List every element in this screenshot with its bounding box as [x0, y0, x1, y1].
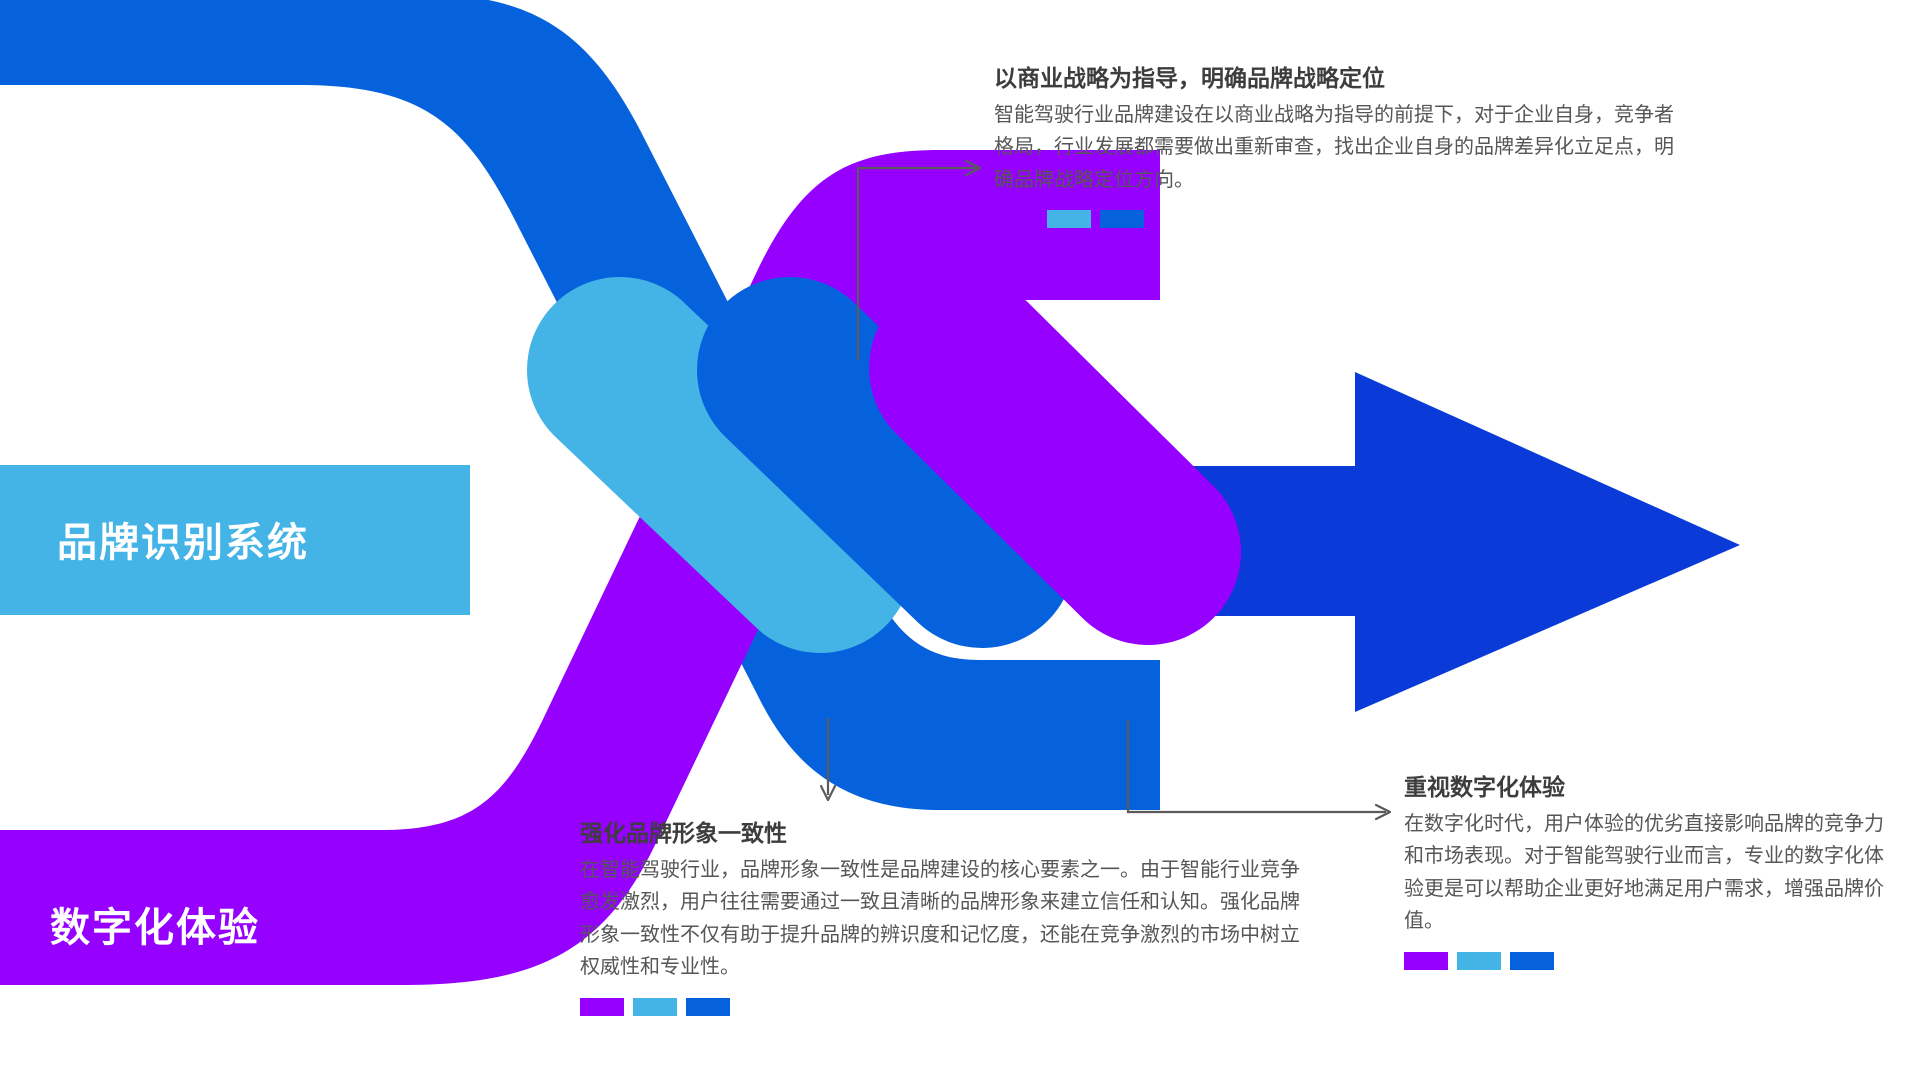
callout-consistency-swatches — [580, 998, 1310, 1016]
callout-strategy-title: 以商业战略为指导，明确品牌战略定位 — [994, 63, 1684, 94]
swatch-blue — [1510, 952, 1554, 970]
band-label-digital: 数字化体验 — [50, 908, 260, 948]
callout-digital-title: 重视数字化体验 — [1404, 772, 1894, 803]
callout-digital-body: 在数字化时代，用户体验的优劣直接影响品牌的竞争力和市场表现。对于智能驾驶行业而言… — [1404, 808, 1894, 938]
swatch-blue — [686, 998, 730, 1016]
swatch-cyan — [1457, 952, 1501, 970]
callout-strategy-body: 智能驾驶行业品牌建设在以商业战略为指导的前提下，对于企业自身，竞争者格局，行业发… — [994, 99, 1684, 196]
callout-digital: 重视数字化体验 在数字化时代，用户体验的优劣直接影响品牌的竞争力和市场表现。对于… — [1404, 772, 1894, 970]
callout-strategy-swatches — [994, 210, 1684, 228]
callout-consistency: 强化品牌形象一致性 在智能驾驶行业，品牌形象一致性是品牌建设的核心要素之一。由于… — [580, 818, 1310, 1016]
band-label-strategy: 品牌战略定位 — [57, 152, 309, 192]
swatch-blue — [1100, 210, 1144, 228]
callout-strategy: 以商业战略为指导，明确品牌战略定位 智能驾驶行业品牌建设在以商业战略为指导的前提… — [994, 63, 1684, 228]
infographic-canvas: 品牌战略定位 品牌识别系统 数字化体验 以商业战略为指导，明确品牌战略定位 智能… — [0, 0, 1920, 1080]
connector-digital — [1128, 720, 1386, 812]
band-label-identity: 品牌识别系统 — [57, 523, 309, 563]
braid-lobe-purple — [962, 368, 1148, 552]
swatch-purple — [994, 210, 1038, 228]
swatch-cyan — [633, 998, 677, 1016]
swatch-purple — [580, 998, 624, 1016]
swatch-cyan — [1047, 210, 1091, 228]
callout-consistency-title: 强化品牌形象一致性 — [580, 818, 1310, 849]
callout-consistency-body: 在智能驾驶行业，品牌形象一致性是品牌建设的核心要素之一。由于智能行业竞争愈发激烈… — [580, 854, 1310, 984]
callout-digital-swatches — [1404, 952, 1894, 970]
swatch-purple — [1404, 952, 1448, 970]
